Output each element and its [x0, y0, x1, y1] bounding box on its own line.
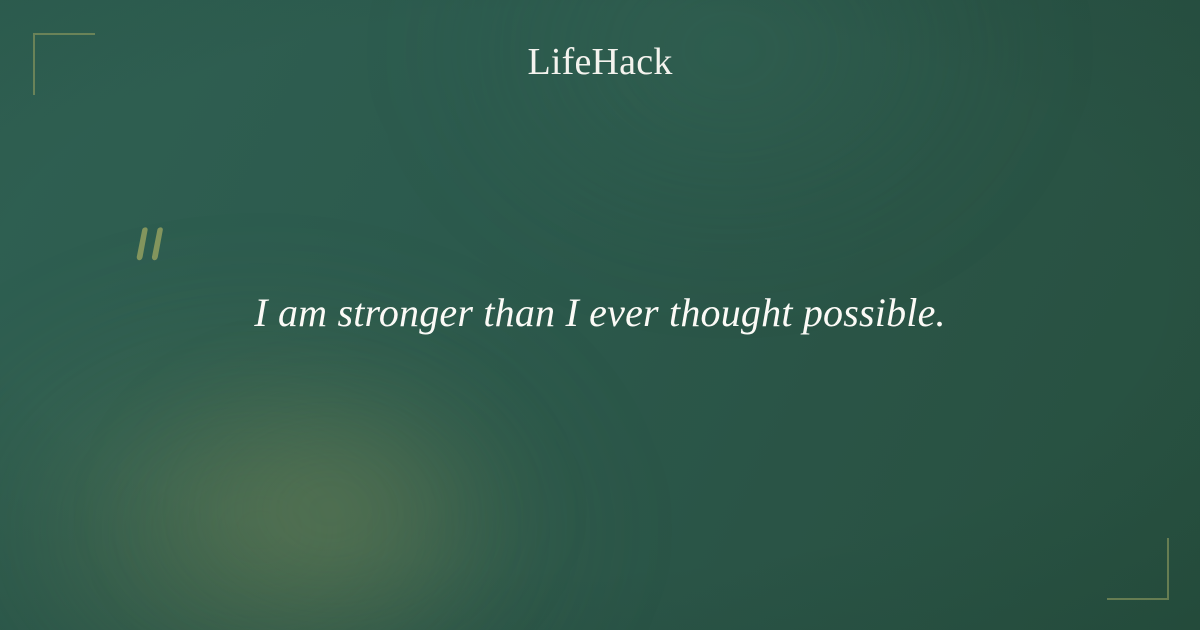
- quote-text: I am stronger than I ever thought possib…: [100, 286, 1100, 340]
- brand-name: LifeHack: [527, 41, 672, 83]
- double-quote-mark-icon: [131, 226, 179, 270]
- quote-card: LifeHack I am stronger than I ever thoug…: [0, 0, 1200, 630]
- corner-bracket-bottom-right-icon: [1107, 538, 1169, 600]
- quote-block: I am stronger than I ever thought possib…: [100, 286, 1100, 340]
- brand-logo: LifeHack: [0, 38, 1200, 86]
